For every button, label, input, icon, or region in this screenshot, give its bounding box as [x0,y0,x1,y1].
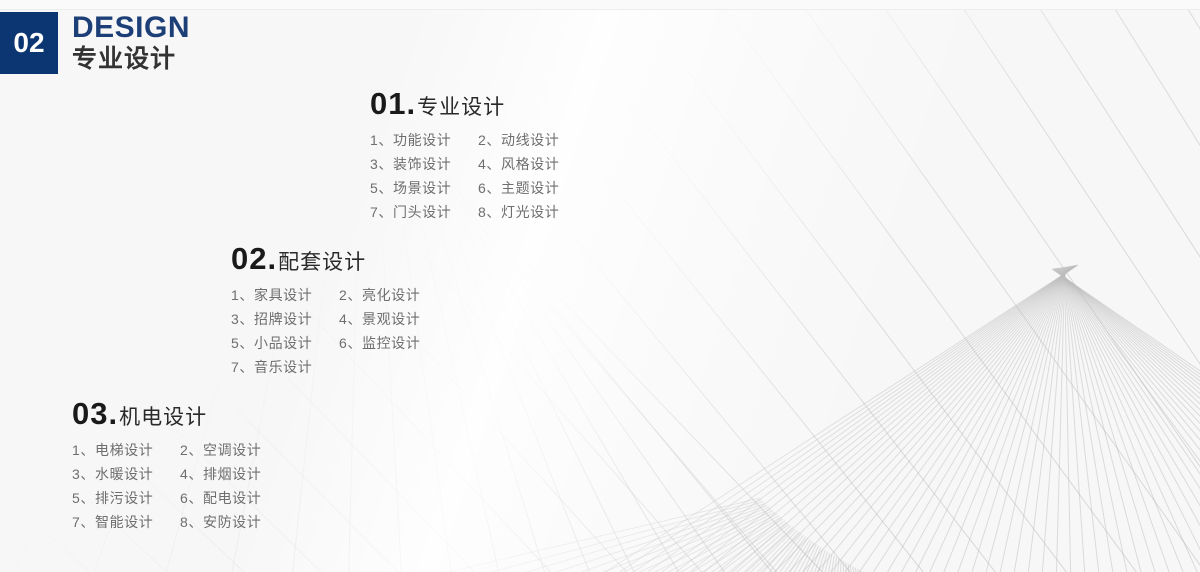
list-cell: 3、装饰设计 [370,157,478,171]
list-cell: 4、排烟设计 [180,467,261,481]
list-cell: 5、排污设计 [72,491,180,505]
section-01-title: 专业设计 [417,96,505,119]
slide-header: 02 DESIGN 专业设计 [0,12,190,74]
list-cell: 7、智能设计 [72,515,180,529]
design-slide: 02 DESIGN 专业设计 01.专业设计 1、功能设计 2、动线设计 3、装… [0,0,1200,572]
list-cell: 1、功能设计 [370,133,478,147]
list-cell: 8、灯光设计 [478,205,559,219]
section-03-title: 机电设计 [119,406,207,429]
list-item: 5、排污设计 6、配电设计 [72,491,261,505]
section-01-heading: 01.专业设计 [370,88,559,119]
section-02-list: 1、家具设计 2、亮化设计 3、招牌设计 4、景观设计 5、小品设计 6、监控设… [231,288,420,374]
section-number-badge: 02 [0,12,58,74]
list-cell: 2、亮化设计 [339,288,420,302]
header-title-cn: 专业设计 [72,45,190,73]
list-cell: 6、监控设计 [339,336,420,350]
section-02: 02.配套设计 1、家具设计 2、亮化设计 3、招牌设计 4、景观设计 5、小品… [231,243,420,384]
list-cell: 8、安防设计 [180,515,261,529]
list-cell: 5、小品设计 [231,336,339,350]
section-01-number: 01 [370,86,406,121]
section-02-number: 02 [231,241,267,276]
list-cell: 5、场景设计 [370,181,478,195]
section-03-heading: 03.机电设计 [72,398,261,429]
list-item: 3、装饰设计 4、风格设计 [370,157,559,171]
list-cell: 4、风格设计 [478,157,559,171]
list-cell: 3、招牌设计 [231,312,339,326]
list-cell: 4、景观设计 [339,312,420,326]
list-cell: 6、主题设计 [478,181,559,195]
list-cell: 1、电梯设计 [72,443,180,457]
section-02-title: 配套设计 [278,251,366,274]
section-03-dot: . [108,396,117,431]
list-item: 7、音乐设计 [231,360,420,374]
list-cell: 1、家具设计 [231,288,339,302]
header-text-block: DESIGN 专业设计 [72,13,190,73]
section-01-list: 1、功能设计 2、动线设计 3、装饰设计 4、风格设计 5、场景设计 6、主题设… [370,133,559,219]
list-item: 1、家具设计 2、亮化设计 [231,288,420,302]
list-cell: 7、音乐设计 [231,360,312,374]
list-cell: 2、空调设计 [180,443,261,457]
section-03-number: 03 [72,396,108,431]
list-item: 1、电梯设计 2、空调设计 [72,443,261,457]
section-02-dot: . [267,241,276,276]
top-divider-strip [0,0,1200,10]
list-item: 1、功能设计 2、动线设计 [370,133,559,147]
section-02-heading: 02.配套设计 [231,243,420,274]
list-cell: 2、动线设计 [478,133,559,147]
section-01: 01.专业设计 1、功能设计 2、动线设计 3、装饰设计 4、风格设计 5、场景… [370,88,559,229]
list-item: 7、智能设计 8、安防设计 [72,515,261,529]
list-cell: 7、门头设计 [370,205,478,219]
list-item: 5、小品设计 6、监控设计 [231,336,420,350]
list-cell: 6、配电设计 [180,491,261,505]
list-cell: 3、水暖设计 [72,467,180,481]
section-01-dot: . [406,86,415,121]
list-item: 3、招牌设计 4、景观设计 [231,312,420,326]
list-item: 7、门头设计 8、灯光设计 [370,205,559,219]
list-item: 3、水暖设计 4、排烟设计 [72,467,261,481]
list-item: 5、场景设计 6、主题设计 [370,181,559,195]
section-03: 03.机电设计 1、电梯设计 2、空调设计 3、水暖设计 4、排烟设计 5、排污… [72,398,261,539]
section-03-list: 1、电梯设计 2、空调设计 3、水暖设计 4、排烟设计 5、排污设计 6、配电设… [72,443,261,529]
header-title-en: DESIGN [72,13,190,43]
